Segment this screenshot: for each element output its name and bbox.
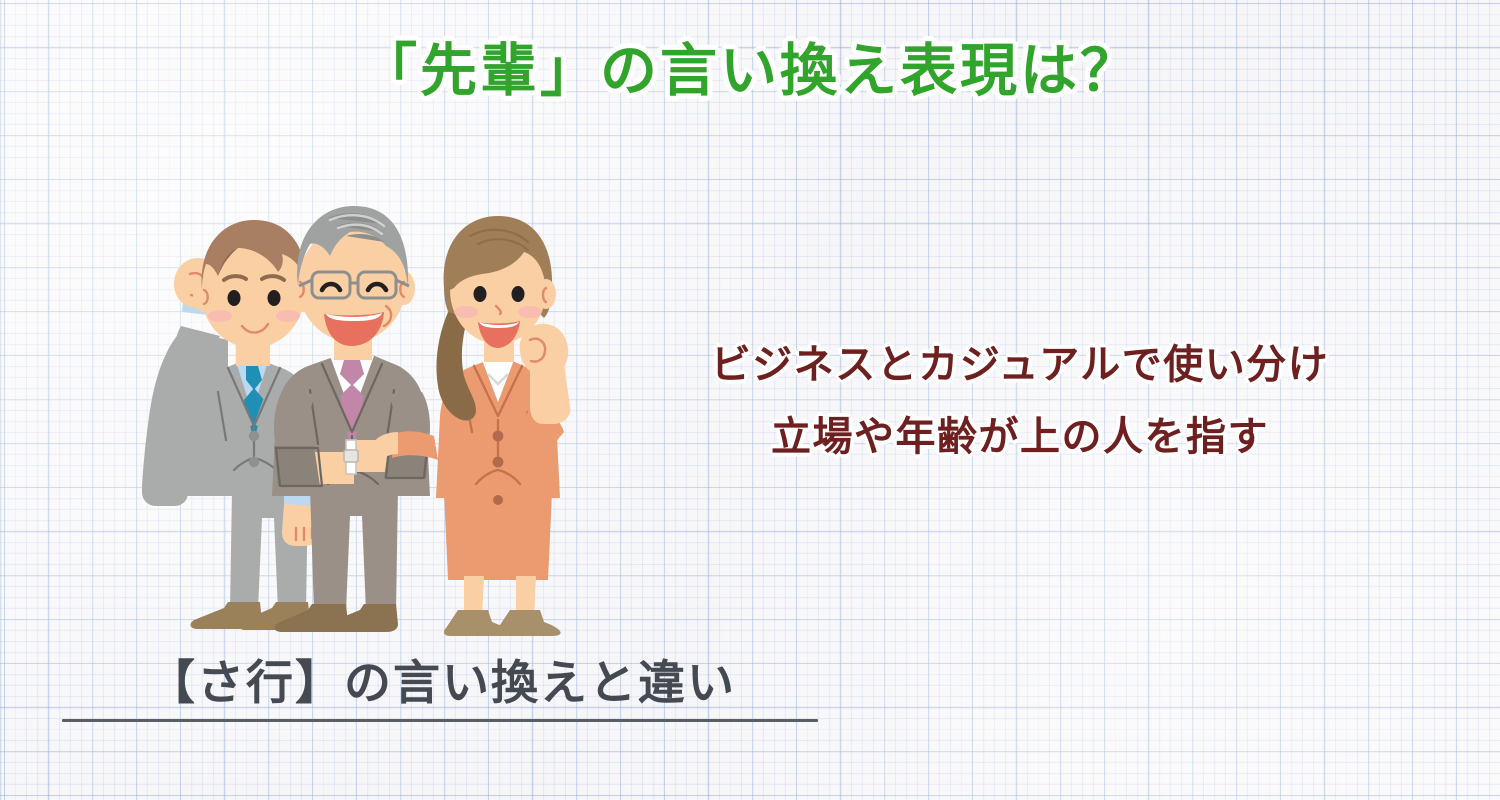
footer-block: 【さ行】の言い換えと違い	[62, 660, 822, 722]
slide-canvas: .skin { fill:#fbcfa4; } .skinD { fill:#f…	[0, 0, 1500, 800]
subheadline-block: ビジネスとカジュアルで使い分け 立場や年齢が上の人を指す	[620, 345, 1420, 457]
page-title: 「先輩」の言い換え表現は？	[0, 42, 1500, 102]
footer-caption: 【さ行】の言い換えと違い	[62, 660, 822, 719]
three-business-people-illustration: .skin { fill:#fbcfa4; } .skinD { fill:#f…	[78, 140, 598, 640]
subheadline-line-2: 立場や年齢が上の人を指す	[620, 417, 1420, 457]
footer-underline-rule	[62, 719, 818, 722]
subheadline-line-1: ビジネスとカジュアルで使い分け	[620, 345, 1420, 385]
